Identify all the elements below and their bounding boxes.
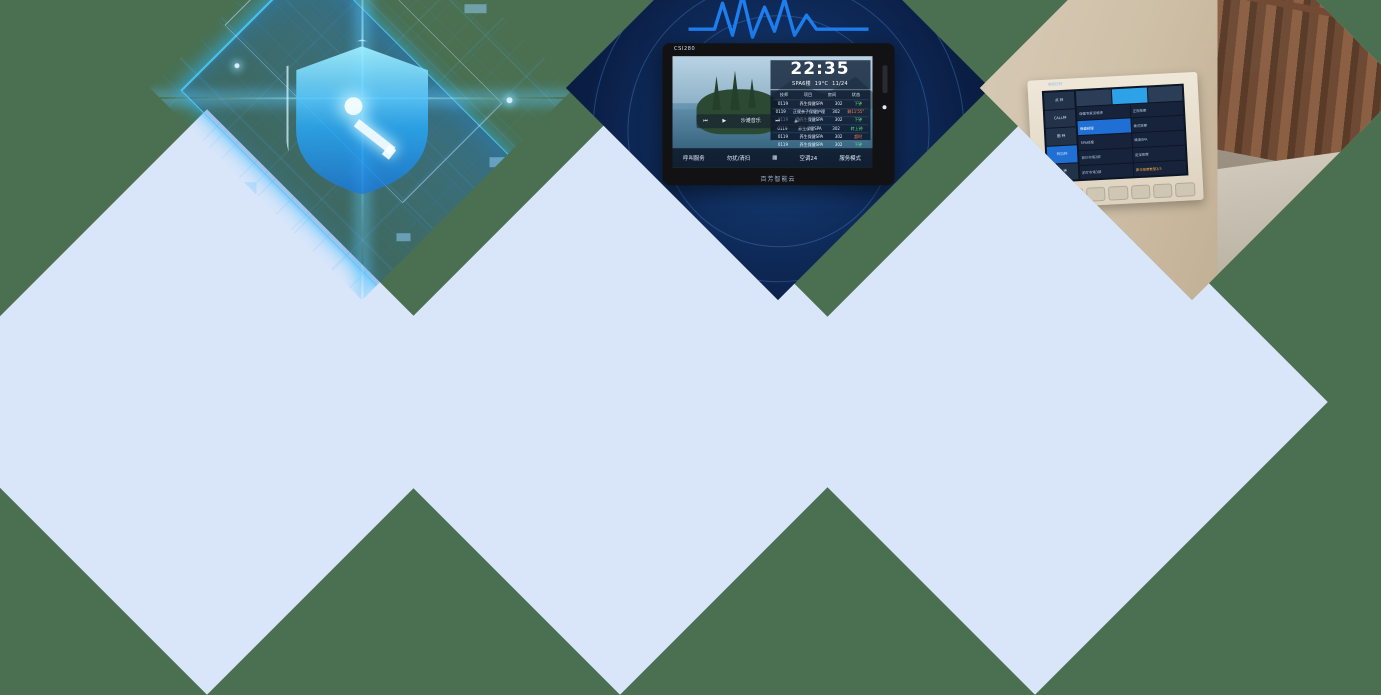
- panel-tab-technician-status[interactable]: [1112, 88, 1147, 104]
- tablet-logo-label: 百芳智能云: [662, 174, 894, 183]
- col-technician: 技师: [780, 93, 788, 99]
- clock-meta: SPA6楼 19°C 11/24: [792, 81, 848, 88]
- list-item[interactable]: SPA经理: [1078, 133, 1131, 149]
- media-next-icon[interactable]: ⏭: [775, 118, 780, 124]
- clock-temperature: 19°C: [815, 82, 829, 88]
- panel-hard-button[interactable]: [1153, 183, 1173, 198]
- cell-item: 养生保健SPA: [800, 101, 823, 107]
- panel-main-area[interactable]: 保健专家资格师 保健经理 SPA经理 前厅市场2部 前厅市场3部 正规按摩 泰式…: [1076, 86, 1187, 179]
- tablet-speaker-icon: [882, 65, 887, 93]
- clock-date: 11/24: [832, 82, 848, 88]
- button-dnd-clean[interactable]: 勿扰/清扫: [727, 154, 750, 162]
- cell-room: 302: [835, 134, 843, 140]
- list-item[interactable]: 精油SPA: [1132, 130, 1185, 146]
- cell-status: 下钟: [854, 101, 862, 107]
- panel-title: 客服控制: [1048, 81, 1063, 87]
- cell-technician: 0119: [778, 134, 788, 140]
- col-room: 房间: [828, 93, 836, 99]
- cell-status: 转上钟: [851, 126, 863, 132]
- tablet-brand-label: CSI280: [674, 46, 695, 52]
- cell-technician: 0119: [778, 142, 788, 148]
- cell-room: 302: [835, 101, 843, 107]
- panel-btn-quanzhong[interactable]: 圈 钟: [1045, 127, 1076, 145]
- panel-btn-dianzhong[interactable]: 点 钟: [1044, 92, 1075, 110]
- cell-room: 302: [832, 109, 840, 115]
- technician-list-header: 技师 项目 房间 状态: [772, 93, 868, 100]
- apps-grid-icon[interactable]: ▦: [772, 155, 777, 161]
- list-item[interactable]: 保健专家资格师: [1077, 104, 1130, 120]
- tablet-bottom-bar[interactable]: 呼叫服务 勿扰/清扫 ▦ 空调24 服务模式: [672, 148, 872, 167]
- panel-tab-services[interactable]: [1076, 90, 1111, 106]
- panel-screen[interactable]: 点 钟 CALL钟 圈 钟 转加钟 选 钟: [1041, 84, 1188, 183]
- col-status: 状态: [852, 93, 860, 99]
- button-service-mode[interactable]: 服务模式: [839, 154, 861, 162]
- infographic-stage: 01 强大的接口 与多家团购网络合作，团购 验证和结算同步，解决了先验证 后结算…: [0, 0, 1381, 603]
- clock-location: SPA6楼: [792, 82, 811, 88]
- media-prev-icon[interactable]: ⏮: [703, 118, 708, 124]
- media-player-bar[interactable]: ⏮ ▶ 沙滩音乐 ⏭ 🔊: [696, 114, 808, 128]
- spark-icon: [507, 97, 513, 103]
- tablet-screen[interactable]: 22:35 SPA6楼 19°C 11/24 技师 项目 房间 状态: [672, 56, 872, 167]
- list-item[interactable]: 前厅市场3部: [1080, 163, 1133, 179]
- media-play-icon[interactable]: ▶: [722, 118, 726, 124]
- cell-status: 超时: [854, 134, 862, 140]
- list-item[interactable]: 豪华按摩套型2/3: [1133, 160, 1186, 176]
- col-item: 项目: [804, 93, 812, 99]
- cell-status: 剩11'55": [847, 109, 864, 115]
- cell-room: 302: [835, 142, 843, 148]
- tablet-camera-icon: [882, 105, 886, 109]
- cell-technician: 0119: [778, 101, 788, 107]
- list-item[interactable]: 泰式按摩: [1131, 116, 1184, 132]
- chip-icon: [396, 233, 410, 241]
- key-head-icon: [344, 97, 362, 115]
- table-row[interactable]: 0119 养生保健SPA 302 下钟: [772, 100, 868, 108]
- panel-hard-button[interactable]: [1175, 182, 1195, 197]
- panel-tab-rooms[interactable]: [1147, 86, 1182, 102]
- pulse-wave-icon: [688, 0, 868, 45]
- panel-left-list[interactable]: 保健专家资格师 保健经理 SPA经理 前厅市场2部 前厅市场3部: [1077, 104, 1133, 179]
- media-label: 沙滩音乐: [741, 118, 761, 125]
- plant-icon: [1333, 202, 1379, 242]
- cell-item: 养生保健SPA: [800, 142, 823, 148]
- list-item[interactable]: 前厅市场2部: [1079, 148, 1132, 164]
- clock-time: 22:35: [790, 62, 849, 79]
- list-item[interactable]: 保健经理: [1078, 118, 1131, 134]
- tablet-device[interactable]: CSI280 22:35 SPA6楼 19°C: [662, 43, 894, 185]
- plant-icon: [1268, 224, 1328, 276]
- clock-widget: 22:35 SPA6楼 19°C 11/24: [770, 60, 870, 89]
- button-aircon[interactable]: 空调24: [800, 154, 818, 162]
- panel-hard-button[interactable]: [1131, 184, 1151, 199]
- list-item[interactable]: 足宝按摩: [1133, 145, 1186, 161]
- panel-hard-button[interactable]: [1108, 185, 1128, 200]
- table-row[interactable]: 0119 养生保健SPA 302 超时: [772, 132, 868, 140]
- chip-icon: [490, 157, 508, 167]
- cell-status: 下钟: [854, 118, 862, 124]
- media-volume-icon[interactable]: 🔊: [794, 118, 800, 124]
- list-item[interactable]: 正规按摩: [1130, 101, 1183, 117]
- button-call-service[interactable]: 呼叫服务: [683, 154, 705, 162]
- chip-icon: [464, 4, 486, 13]
- cell-room: 302: [835, 118, 843, 124]
- cell-room: 302: [832, 126, 840, 132]
- spark-icon: [235, 63, 240, 68]
- cell-status: 下钟: [854, 142, 862, 148]
- panel-right-list[interactable]: 正规按摩 泰式按摩 精油SPA 足宝按摩 豪华按摩套型2/3: [1130, 101, 1186, 176]
- panel-btn-callzhong[interactable]: CALL钟: [1044, 109, 1075, 127]
- panel-lists[interactable]: 保健专家资格师 保健经理 SPA经理 前厅市场2部 前厅市场3部 正规按摩 泰式…: [1077, 101, 1187, 179]
- plant-icon: [1237, 259, 1277, 293]
- cell-item: 养生保健SPA: [800, 134, 823, 140]
